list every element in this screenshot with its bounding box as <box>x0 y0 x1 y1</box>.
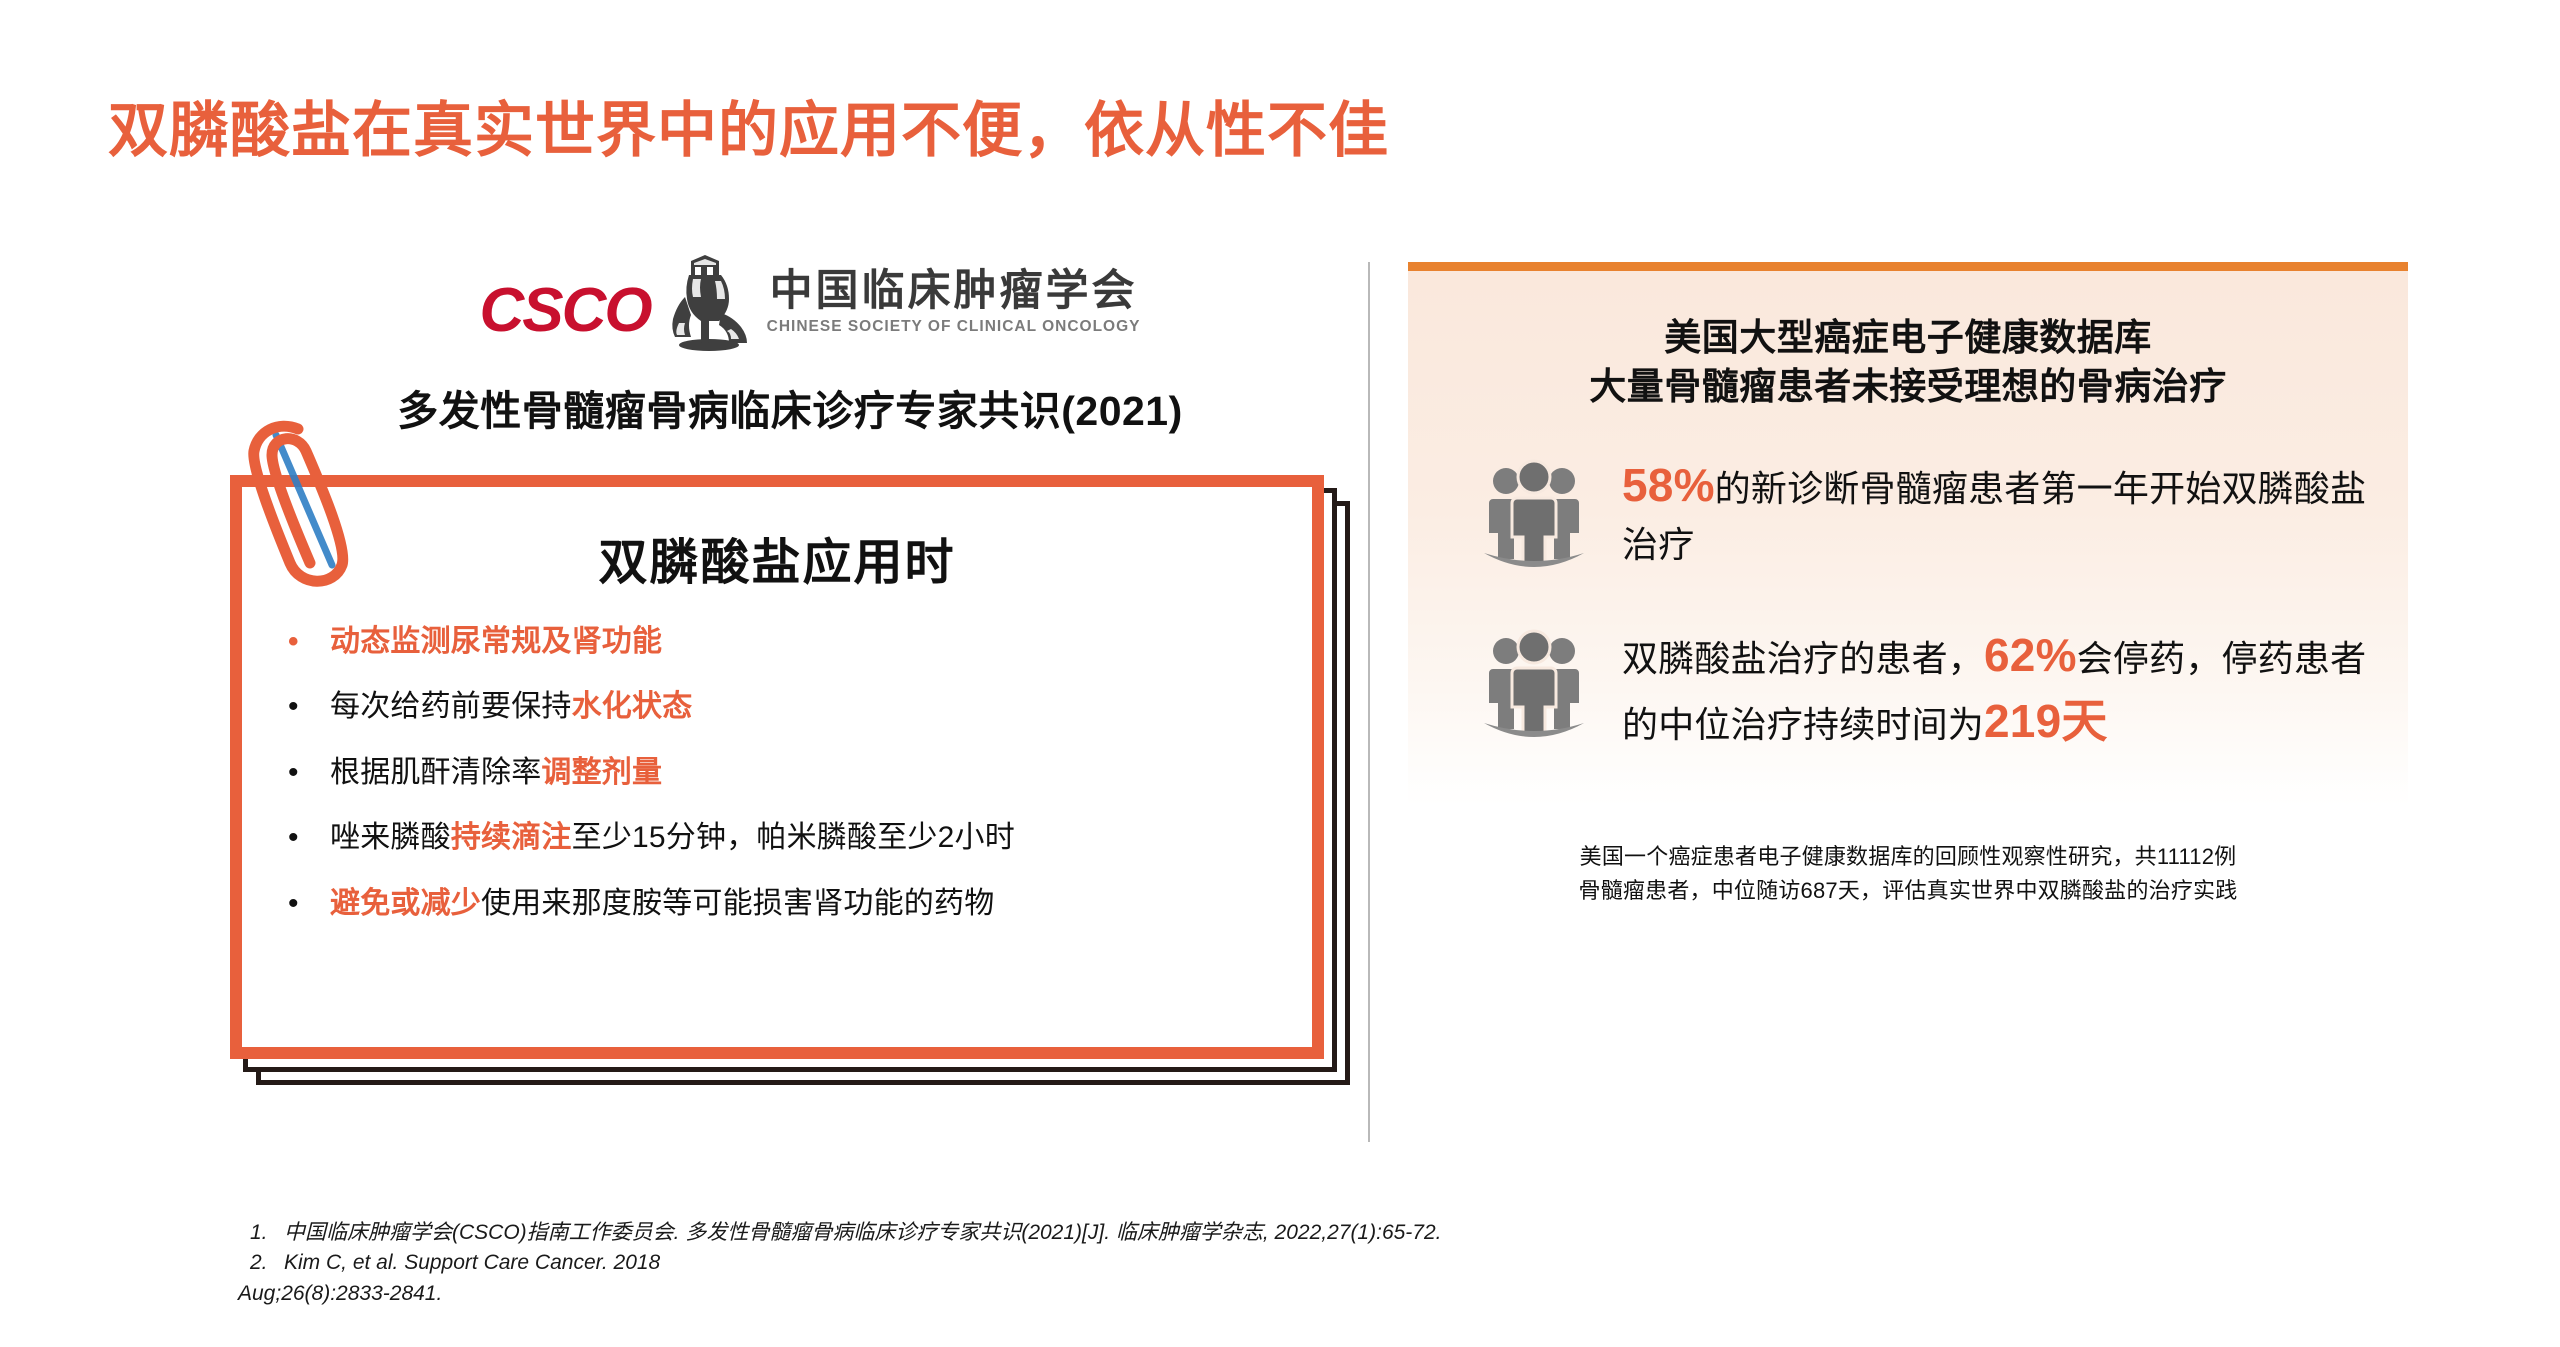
references: 1.中国临床肿瘤学会(CSCO)指南工作委员会. 多发性骨髓瘤骨病临床诊疗专家共… <box>238 1218 1442 1309</box>
bullet-text: 每次给药前要保持水化状态 <box>330 690 692 723</box>
page-title: 双膦酸盐在真实世界中的应用不便，依从性不佳 <box>108 82 1389 169</box>
bullet-plain: 每次给药前要保持 <box>330 690 572 723</box>
reference-2-continuation: Aug;26(8):2833-2841. <box>238 1279 1442 1309</box>
bullet-item-2: •每次给药前要保持水化状态 <box>266 689 1376 724</box>
bullet-highlight: 调整剂量 <box>541 756 662 789</box>
bullet-list: •动态监测尿常规及肾功能•每次给药前要保持水化状态•根据肌酐清除率调整剂量•唑来… <box>266 624 1288 921</box>
panel-heading-line2: 大量骨髓瘤患者未接受理想的骨病治疗 <box>1434 362 2382 411</box>
panel-heading-line1: 美国大型癌症电子健康数据库 <box>1434 313 2382 362</box>
bullet-text: 根据肌酐清除率调整剂量 <box>330 756 662 789</box>
csco-english-name: CHINESE SOCIETY OF CLINICAL ONCOLOGY <box>767 318 1141 336</box>
stat-text-2: 双膦酸盐治疗的患者，62%会停药，停药患者的中位治疗持续时间为219天 <box>1622 621 2382 754</box>
reference-2-number: 2. <box>238 1248 284 1278</box>
csco-name-block: 中国临床肿瘤学会 CHINESE SOCIETY OF CLINICAL ONC… <box>767 269 1141 336</box>
right-column: 美国大型癌症电子健康数据库 大量骨髓瘤患者未接受理想的骨病治疗 58%的新诊断骨… <box>1408 262 2408 908</box>
stat-description: 双膦酸盐治疗的患者， <box>1622 638 1984 679</box>
bullet-dot-icon: • <box>288 886 299 921</box>
source-note: 美国一个癌症患者电子健康数据库的回顾性观察性研究，共11112例 骨髓瘤患者，中… <box>1408 840 2408 908</box>
bullet-plain: 唑来膦酸 <box>330 821 451 854</box>
group-of-people-icon <box>1480 457 1588 575</box>
box-content: 双膦酸盐应用时 •动态监测尿常规及肾功能•每次给药前要保持水化状态•根据肌酐清除… <box>242 487 1312 1047</box>
great-wall-emblem-icon <box>661 253 757 353</box>
bullet-highlight: 持续滴注 <box>451 821 572 854</box>
left-column: CSCO 中国临床肿瘤学会 <box>230 250 1350 1085</box>
bullet-item-5: •避免或减少使用来那度胺等可能损害肾功能的药物 <box>266 886 1376 921</box>
stat-figure: 62% <box>1984 629 2077 681</box>
stats-panel: 美国大型癌症电子健康数据库 大量骨髓瘤患者未接受理想的骨病治疗 58%的新诊断骨… <box>1408 262 2408 806</box>
bullet-dot-icon: • <box>288 820 299 855</box>
bullet-plain: 至少15分钟，帕米膦酸至少2小 <box>572 821 985 854</box>
group-of-people-icon <box>1480 627 1588 745</box>
stat-row-1: 58%的新诊断骨髓瘤患者第一年开始双膦酸盐治疗 <box>1434 451 2382 575</box>
bullet-wrap-text: 时 <box>985 821 1015 854</box>
bullet-item-3: •根据肌酐清除率调整剂量 <box>266 755 1376 790</box>
stat-text-1: 58%的新诊断骨髓瘤患者第一年开始双膦酸盐治疗 <box>1622 451 2382 569</box>
bullet-highlight: 水化状态 <box>572 690 693 723</box>
bullet-item-4: •唑来膦酸持续滴注至少15分钟，帕米膦酸至少2小时 <box>266 820 1376 855</box>
consensus-title: 多发性骨髓瘤骨病临床诊疗专家共识(2021) <box>230 377 1350 437</box>
csco-wordmark: CSCO <box>479 280 650 342</box>
source-note-line2: 骨髓瘤患者，中位随访687天，评估真实世界中双膦酸盐的治疗实践 <box>1408 874 2408 908</box>
reference-1-text: 中国临床肿瘤学会(CSCO)指南工作委员会. 多发性骨髓瘤骨病临床诊疗专家共识(… <box>284 1221 1442 1244</box>
reference-item-2: 2.Kim C, et al. Support Care Cancer. 201… <box>238 1248 1442 1278</box>
bullet-text: 避免或减少使用来那度胺等可能损害肾功能的药物 <box>330 887 994 920</box>
bullet-text: 动态监测尿常规及肾功能 <box>330 625 662 658</box>
bullet-highlight: 避免或减少 <box>330 887 481 920</box>
guideline-box: 双膦酸盐应用时 •动态监测尿常规及肾功能•每次给药前要保持水化状态•根据肌酐清除… <box>230 475 1350 1085</box>
stat-figure: 219天 <box>1984 695 2108 747</box>
bullet-highlight: 动态监测尿常规及肾功能 <box>330 625 662 658</box>
csco-chinese-name: 中国临床肿瘤学会 <box>770 269 1138 314</box>
bullet-dot-icon: • <box>288 755 299 790</box>
reference-item-1: 1.中国临床肿瘤学会(CSCO)指南工作委员会. 多发性骨髓瘤骨病临床诊疗专家共… <box>238 1218 1442 1248</box>
stat-figure: 58% <box>1622 459 1715 511</box>
stat-description: 的新诊断骨髓瘤患者第一年开始双膦酸盐治疗 <box>1622 468 2366 564</box>
csco-logo: CSCO 中国临床肿瘤学会 <box>270 250 1350 355</box>
bullet-plain: 使用来那度胺等可能损害肾功能的药物 <box>481 887 994 920</box>
box-heading: 双膦酸盐应用时 <box>266 523 1288 594</box>
stat-row-2: 双膦酸盐治疗的患者，62%会停药，停药患者的中位治疗持续时间为219天 <box>1434 621 2382 754</box>
bullet-text: 唑来膦酸持续滴注至少15分钟，帕米膦酸至少2小 <box>266 821 985 854</box>
reference-1-number: 1. <box>238 1218 284 1248</box>
source-note-line1: 美国一个癌症患者电子健康数据库的回顾性观察性研究，共11112例 <box>1408 840 2408 874</box>
bullet-plain: 根据肌酐清除率 <box>330 756 541 789</box>
bullet-dot-icon: • <box>288 624 299 659</box>
slide-root: 双膦酸盐在真实世界中的应用不便，依从性不佳 CSCO <box>0 0 2560 1347</box>
panel-heading: 美国大型癌症电子健康数据库 大量骨髓瘤患者未接受理想的骨病治疗 <box>1434 313 2382 411</box>
reference-2-text: Kim C, et al. Support Care Cancer. 2018 <box>284 1251 660 1274</box>
stats-list: 58%的新诊断骨髓瘤患者第一年开始双膦酸盐治疗 双膦酸盐治疗的患者，62%会停药… <box>1434 451 2382 754</box>
bullet-item-1: •动态监测尿常规及肾功能 <box>266 624 1376 659</box>
bullet-dot-icon: • <box>288 689 299 724</box>
